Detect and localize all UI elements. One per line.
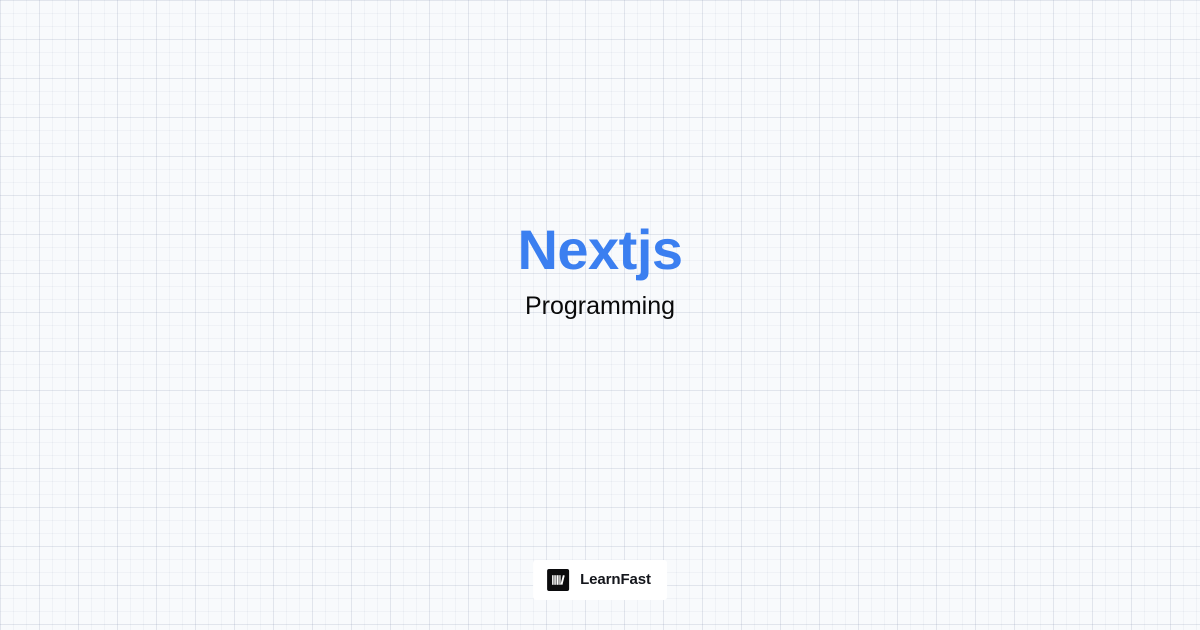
brand-badge: LearnFast — [533, 560, 667, 600]
page-title: Nextjs — [0, 218, 1200, 282]
brand-name-label: LearnFast — [580, 571, 651, 589]
page-subtitle: Programming — [0, 290, 1200, 322]
headline-block: Nextjs Programming — [0, 218, 1200, 322]
books-shelf-icon — [547, 569, 569, 591]
og-share-card: Nextjs Programming LearnFast — [0, 0, 1200, 630]
card-content: Nextjs Programming LearnFast — [0, 0, 1200, 630]
